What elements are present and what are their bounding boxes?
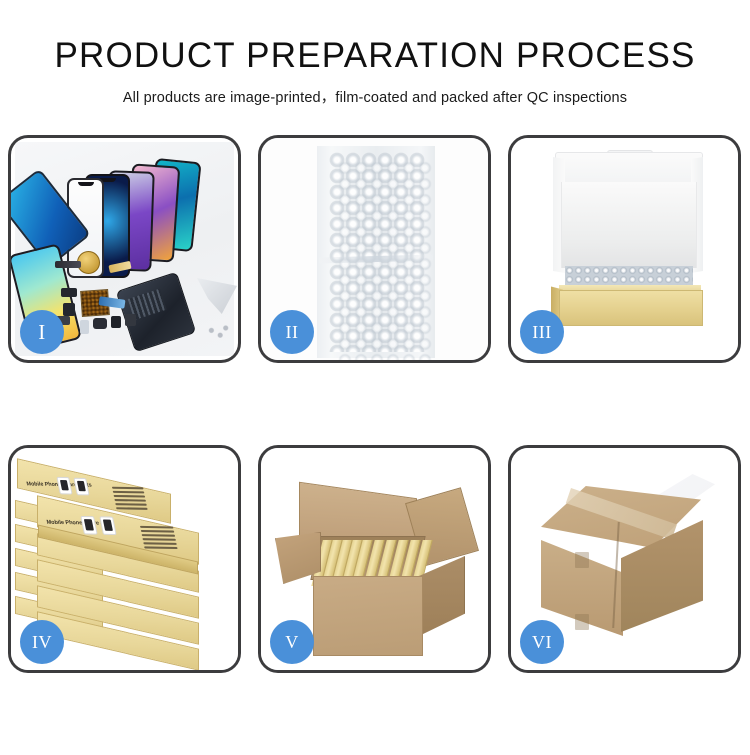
small-part-icon [80, 320, 89, 334]
small-part-icon [93, 318, 107, 329]
steps-grid: I II [0, 135, 750, 755]
step-numeral: V [285, 632, 299, 653]
page-subtitle: All products are image-printed，film-coat… [0, 75, 750, 107]
product-preparation-infographic: PRODUCT PREPARATION PROCESS All products… [0, 0, 750, 750]
step-panel-5[interactable]: V [258, 445, 491, 673]
step-panel-1[interactable]: I [8, 135, 241, 363]
page-title: PRODUCT PREPARATION PROCESS [0, 0, 750, 75]
carton-hand-hole [575, 552, 589, 568]
carton-front-panel [313, 576, 423, 656]
box-spec-lines [140, 526, 178, 551]
box-front [559, 290, 703, 326]
step-panel-6[interactable]: VI [508, 445, 741, 673]
small-part-icon [61, 288, 77, 297]
header: PRODUCT PREPARATION PROCESS All products… [0, 0, 750, 107]
step-numeral: III [532, 322, 551, 343]
step-badge-5: V [270, 620, 314, 664]
step-badge-6: VI [520, 620, 564, 664]
step-badge-2: II [270, 310, 314, 354]
step-numeral: VI [532, 632, 552, 653]
screws-icon [207, 324, 229, 340]
steps-row-bottom: Mobile Phone Spare Parts Mobile Phone Sp… [0, 445, 750, 685]
step-numeral: I [38, 320, 46, 345]
carton-hand-hole [575, 614, 589, 630]
notch-icon [78, 182, 94, 186]
step-numeral: II [286, 322, 299, 343]
step-panel-2[interactable]: II [258, 135, 491, 363]
box-spec-lines [112, 487, 148, 512]
step-badge-4: IV [20, 620, 64, 664]
small-part-icon [63, 303, 75, 316]
earpiece-mesh-icon [55, 261, 81, 268]
step-badge-1: I [20, 310, 64, 354]
small-part-icon [111, 316, 121, 328]
box-inner-wall [561, 182, 697, 268]
steps-row-top: I II [0, 135, 750, 375]
step-badge-3: III [520, 310, 564, 354]
step-numeral: IV [32, 632, 52, 653]
small-part-icon [125, 314, 136, 326]
step-panel-4[interactable]: Mobile Phone Spare Parts Mobile Phone Sp… [8, 445, 241, 673]
step-panel-3[interactable]: III [508, 135, 741, 363]
